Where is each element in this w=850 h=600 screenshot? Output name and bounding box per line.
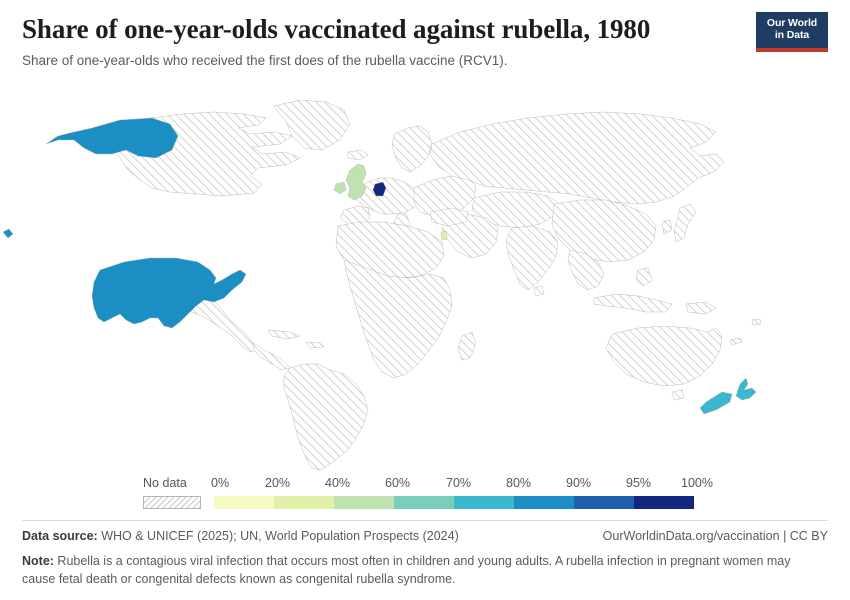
legend-tick-0: 0% [211,476,229,490]
country-south-america[interactable] [284,364,368,470]
legend-swatch-no-data[interactable] [143,496,201,509]
country-scandinavia[interactable] [392,126,432,172]
chart-header: Share of one-year-olds vaccinated agains… [0,0,850,70]
owid-logo-line2: in Data [775,30,809,42]
page-title: Share of one-year-olds vaccinated agains… [22,14,828,45]
country-hawaii[interactable] [3,229,13,238]
legend-swatch-95-100[interactable] [634,496,694,509]
country-fiji[interactable] [752,319,761,325]
country-alaska[interactable] [46,118,178,158]
country-central-america[interactable] [252,342,290,370]
data-source-label: Data source: [22,529,98,543]
country-cuba[interactable] [268,330,300,339]
legend-swatch-20-40[interactable] [274,496,334,509]
legend-tick-70: 70% [446,476,471,490]
owid-map-chart: Share of one-year-olds vaccinated agains… [0,0,850,600]
country-japan[interactable] [674,204,696,242]
country-png[interactable] [686,302,716,314]
legend-tick-40: 40% [325,476,350,490]
data-source-text: WHO & UNICEF (2025); UN, World Populatio… [98,529,459,543]
owid-logo[interactable]: Our World in Data [756,12,828,52]
country-sub-saharan-africa[interactable] [344,260,452,378]
country-india[interactable] [506,226,558,290]
country-madagascar[interactable] [458,332,476,360]
legend-color-bar[interactable] [140,496,710,509]
country-israel[interactable] [441,231,447,240]
note-label: Note: [22,554,54,568]
legend-tick-100: 100% [681,476,713,490]
legend-swatch-70-80[interactable] [454,496,514,509]
note-text: Rubella is a contagious viral infection … [22,554,791,586]
legend-swatch-0-20[interactable] [214,496,274,509]
country-new-caledonia[interactable] [730,338,742,345]
country-united-kingdom[interactable] [334,164,366,200]
chart-note: Note: Rubella is a contagious viral infe… [22,552,822,588]
legend-tick-60: 60% [385,476,410,490]
country-tasmania[interactable] [672,390,684,400]
legend-swatch-90-95[interactable] [574,496,634,509]
country-iceland[interactable] [348,150,368,160]
chart-subtitle: Share of one-year-olds who received the … [22,52,828,70]
legend-tick-95: 95% [626,476,651,490]
legend-tick-labels: No data 0% 20% 40% 60% 70% 80% 90% 95% 1… [140,476,710,492]
legend-swatch-40-60[interactable] [334,496,394,509]
country-korea[interactable] [662,220,672,234]
owid-source-link[interactable]: OurWorldinData.org/vaccination | CC BY [603,529,828,543]
country-australia[interactable] [606,326,722,386]
country-new-zealand[interactable] [700,378,756,414]
legend-tick-80: 80% [506,476,531,490]
legend-swatch-80-90[interactable] [514,496,574,509]
map-legend: No data 0% 20% 40% 60% 70% 80% 90% 95% 1… [0,476,850,516]
chart-footer: Data source: WHO & UNICEF (2025); UN, Wo… [0,520,850,588]
legend-tick-90: 90% [566,476,591,490]
legend-nodata-label: No data [143,476,187,490]
world-map[interactable] [0,92,850,474]
country-hispaniola[interactable] [306,342,324,348]
legend-swatch-60-70[interactable] [394,496,454,509]
footer-divider [22,520,828,521]
country-greenland[interactable] [274,100,350,150]
country-philippines[interactable] [636,268,652,286]
country-sri-lanka[interactable] [534,286,544,296]
country-china[interactable] [552,200,656,262]
country-indonesia[interactable] [594,294,672,312]
legend-tick-20: 20% [265,476,290,490]
world-map-svg[interactable] [0,92,850,474]
data-source: Data source: WHO & UNICEF (2025); UN, Wo… [22,529,459,543]
